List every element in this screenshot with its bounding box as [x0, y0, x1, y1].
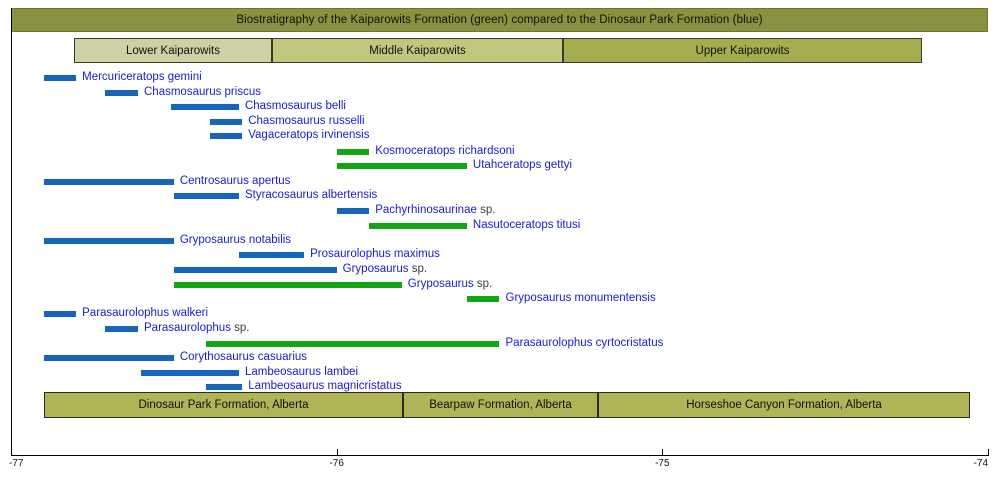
formation-band-label: Horseshoe Canyon Formation, Alberta: [686, 399, 882, 411]
formation-band-horseshoe-canyon: Horseshoe Canyon Formation, Alberta: [598, 392, 970, 418]
biostratigraphy-chart: Biostratigraphy of the Kaiparowits Forma…: [0, 0, 1000, 495]
taxon-name: Chasmosaurus russelli: [248, 115, 364, 127]
taxon-row: Parasaurolophus sp.: [0, 321, 1000, 337]
taxon-row: Centrosaurus apertus: [0, 174, 1000, 190]
taxon-label: Chasmosaurus russelli: [248, 113, 364, 129]
taxon-range-bar[interactable]: [210, 119, 243, 125]
member-band-middle-kaiparowits: Middle Kaiparowits: [272, 38, 563, 63]
taxon-range-bar[interactable]: [105, 90, 138, 96]
formation-band-label: Bearpaw Formation, Alberta: [429, 399, 572, 411]
member-band-label: Upper Kaiparowits: [696, 45, 790, 57]
taxon-range-bar[interactable]: [174, 267, 337, 273]
chart-title-banner: Biostratigraphy of the Kaiparowits Forma…: [11, 8, 988, 32]
taxon-label: Parasaurolophus cyrtocristatus: [506, 335, 664, 351]
taxon-label: Nasutoceratops titusi: [473, 217, 580, 233]
taxon-row: Prosaurolophus maximus: [0, 247, 1000, 263]
taxon-label: Gryposaurus sp.: [343, 261, 427, 277]
formation-band-bearpaw: Bearpaw Formation, Alberta: [403, 392, 598, 418]
taxon-range-bar[interactable]: [44, 311, 77, 317]
axis-tick-label: -75: [655, 458, 669, 469]
taxon-label: Utahceratops gettyi: [473, 157, 572, 173]
taxon-range-bar[interactable]: [337, 208, 370, 214]
taxon-label: Vagaceratops irvinensis: [248, 127, 369, 143]
taxon-row: Lambeosaurus lambei: [0, 365, 1000, 381]
taxon-name: Parasaurolophus cyrtocristatus: [506, 337, 664, 349]
taxon-range-bar[interactable]: [171, 104, 239, 110]
taxon-range-bar[interactable]: [467, 296, 500, 302]
taxon-range-bar[interactable]: [44, 179, 174, 185]
taxon-name: Prosaurolophus maximus: [310, 248, 440, 260]
taxon-row: Gryposaurus sp.: [0, 277, 1000, 293]
taxon-name: Lambeosaurus lambei: [245, 366, 358, 378]
taxon-row: Nasutoceratops titusi: [0, 218, 1000, 234]
taxon-name: Styracosaurus albertensis: [245, 189, 377, 201]
taxon-label: Prosaurolophus maximus: [310, 246, 440, 262]
taxon-name: Chasmosaurus priscus: [144, 86, 261, 98]
taxon-label: Pachyrhinosaurinae sp.: [375, 202, 495, 218]
taxon-label: Kosmoceratops richardsoni: [375, 143, 514, 159]
axis-tick-label: -76: [329, 458, 343, 469]
taxon-label: Parasaurolophus walkeri: [82, 305, 208, 321]
taxon-label: Chasmosaurus priscus: [144, 84, 261, 100]
taxon-row: Corythosaurus casuarius: [0, 350, 1000, 366]
taxon-range-bar[interactable]: [210, 133, 243, 139]
taxon-range-bar[interactable]: [105, 326, 138, 332]
axis-tick-label: -77: [9, 458, 23, 469]
taxon-row: Utahceratops gettyi: [0, 158, 1000, 174]
member-band-label: Middle Kaiparowits: [369, 45, 466, 57]
taxon-label: Gryposaurus sp.: [408, 276, 492, 292]
taxon-label: Mercuriceratops gemini: [82, 69, 202, 85]
taxon-range-plot-area: Mercuriceratops geminiChasmosaurus prisc…: [0, 68, 1000, 386]
taxon-row: Chasmosaurus belli: [0, 99, 1000, 115]
formation-band-dinosaur-park: Dinosaur Park Formation, Alberta: [44, 392, 403, 418]
member-band-label: Lower Kaiparowits: [126, 45, 220, 57]
taxon-name: Mercuriceratops gemini: [82, 71, 202, 83]
taxon-range-bar[interactable]: [174, 193, 239, 199]
taxon-suffix: sp.: [477, 204, 496, 216]
taxon-range-bar[interactable]: [44, 355, 174, 361]
taxon-range-bar[interactable]: [141, 370, 239, 376]
taxon-name: Chasmosaurus belli: [245, 100, 346, 112]
axis-tick-label: -74: [974, 458, 988, 469]
page-title: Biostratigraphy of the Kaiparowits Forma…: [236, 14, 762, 26]
taxon-name: Gryposaurus monumentensis: [506, 292, 656, 304]
taxon-row: Chasmosaurus russelli: [0, 114, 1000, 130]
taxon-name: Utahceratops gettyi: [473, 159, 572, 171]
axis-tick: [337, 449, 338, 456]
taxon-name: Vagaceratops irvinensis: [248, 129, 369, 141]
taxon-name: Parasaurolophus walkeri: [82, 307, 208, 319]
taxon-name: Gryposaurus: [408, 278, 474, 290]
formation-band-label: Dinosaur Park Formation, Alberta: [138, 399, 308, 411]
axis-baseline: [11, 455, 988, 456]
taxon-name: Gryposaurus: [343, 263, 409, 275]
taxon-label: Gryposaurus monumentensis: [506, 290, 656, 306]
taxon-range-bar[interactable]: [206, 341, 499, 347]
member-band-upper-kaiparowits: Upper Kaiparowits: [563, 38, 922, 63]
taxon-row: Gryposaurus sp.: [0, 262, 1000, 278]
taxon-range-bar[interactable]: [206, 384, 242, 390]
taxon-label: Parasaurolophus sp.: [144, 320, 250, 336]
taxon-row: Chasmosaurus priscus: [0, 85, 1000, 101]
taxon-name: Pachyrhinosaurinae: [375, 204, 477, 216]
taxon-name: Centrosaurus apertus: [180, 175, 291, 187]
taxon-name: Kosmoceratops richardsoni: [375, 145, 514, 157]
taxon-label: Gryposaurus notabilis: [180, 232, 291, 248]
taxon-label: Chasmosaurus belli: [245, 98, 346, 114]
taxon-range-bar[interactable]: [239, 252, 304, 258]
taxon-range-bar[interactable]: [174, 282, 402, 288]
axis-tick: [11, 449, 12, 456]
taxon-range-bar[interactable]: [44, 238, 174, 244]
taxon-range-bar[interactable]: [337, 163, 467, 169]
axis-tick: [662, 449, 663, 456]
taxon-suffix: sp.: [231, 322, 250, 334]
taxon-range-bar[interactable]: [44, 75, 77, 81]
taxon-suffix: sp.: [474, 278, 493, 290]
taxon-label: Corythosaurus casuarius: [180, 349, 307, 365]
taxon-label: Centrosaurus apertus: [180, 173, 291, 189]
taxon-row: Styracosaurus albertensis: [0, 188, 1000, 204]
member-band-lower-kaiparowits: Lower Kaiparowits: [74, 38, 272, 63]
taxon-row: Parasaurolophus cyrtocristatus: [0, 336, 1000, 352]
taxon-label: Styracosaurus albertensis: [245, 187, 377, 203]
taxon-name: Corythosaurus casuarius: [180, 351, 307, 363]
taxon-range-bar[interactable]: [337, 149, 370, 155]
taxon-name: Lambeosaurus magnicristatus: [248, 380, 401, 392]
axis-tick: [988, 449, 989, 456]
taxon-name: Nasutoceratops titusi: [473, 219, 580, 231]
taxon-row: Gryposaurus notabilis: [0, 233, 1000, 249]
taxon-suffix: sp.: [409, 263, 428, 275]
taxon-label: Lambeosaurus lambei: [245, 364, 358, 380]
taxon-range-bar[interactable]: [369, 223, 467, 229]
taxon-name: Parasaurolophus: [144, 322, 231, 334]
taxon-name: Gryposaurus notabilis: [180, 234, 291, 246]
